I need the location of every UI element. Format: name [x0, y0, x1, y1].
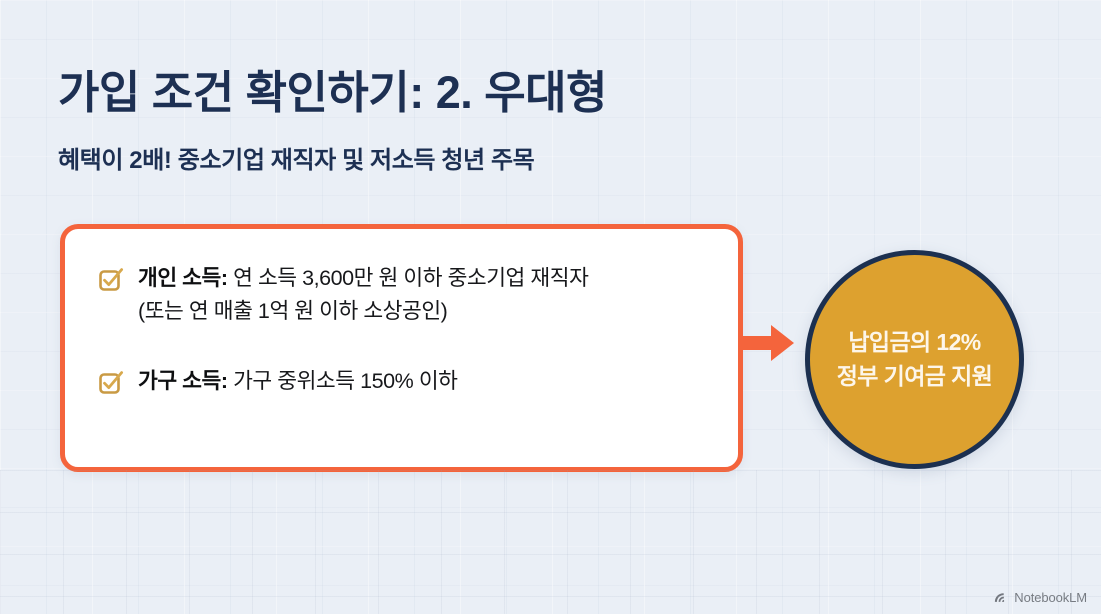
benefit-line-2: 정부 기여금 지원 — [837, 360, 993, 393]
condition-note: (또는 연 매출 1억 원 이하 소상공인) — [138, 295, 588, 328]
checkbox-checked-icon — [98, 267, 124, 293]
benefit-line-1: 납입금의 12% — [848, 326, 980, 359]
page-subtitle: 혜택이 2배! 중소기업 재직자 및 저소득 청년 주목 — [58, 140, 534, 175]
condition-text-group: 개인 소득: 연 소득 3,600만 원 이하 중소기업 재직자 (또는 연 매… — [138, 262, 588, 329]
condition-main-line: 가구 소득: 가구 중위소득 150% 이하 — [138, 365, 458, 398]
condition-row-personal-income: 개인 소득: 연 소득 3,600만 원 이하 중소기업 재직자 (또는 연 매… — [98, 262, 718, 329]
page-title: 가입 조건 확인하기: 2. 우대형 — [58, 56, 607, 121]
condition-label: 개인 소득: — [138, 266, 228, 290]
condition-label: 가구 소득: — [138, 369, 228, 393]
arrow-right-icon — [741, 322, 795, 364]
condition-main-line: 개인 소득: 연 소득 3,600만 원 이하 중소기업 재직자 — [138, 262, 588, 295]
condition-text-group: 가구 소득: 가구 중위소득 150% 이하 — [138, 365, 458, 398]
slide-canvas: 가입 조건 확인하기: 2. 우대형 혜택이 2배! 중소기업 재직자 및 저소… — [0, 0, 1101, 614]
condition-value: 연 소득 3,600만 원 이하 중소기업 재직자 — [228, 266, 589, 290]
notebooklm-logo-icon — [993, 590, 1008, 605]
condition-value: 가구 중위소득 150% 이하 — [228, 369, 458, 393]
condition-row-household-income: 가구 소득: 가구 중위소득 150% 이하 — [98, 365, 718, 398]
conditions-card: 개인 소득: 연 소득 3,600만 원 이하 중소기업 재직자 (또는 연 매… — [60, 224, 743, 472]
checkbox-checked-icon — [98, 370, 124, 396]
watermark: NotebookLM — [993, 590, 1087, 605]
watermark-label: NotebookLM — [1014, 590, 1087, 605]
benefit-badge: 납입금의 12% 정부 기여금 지원 — [805, 250, 1024, 469]
conditions-list: 개인 소득: 연 소득 3,600만 원 이하 중소기업 재직자 (또는 연 매… — [98, 262, 718, 398]
